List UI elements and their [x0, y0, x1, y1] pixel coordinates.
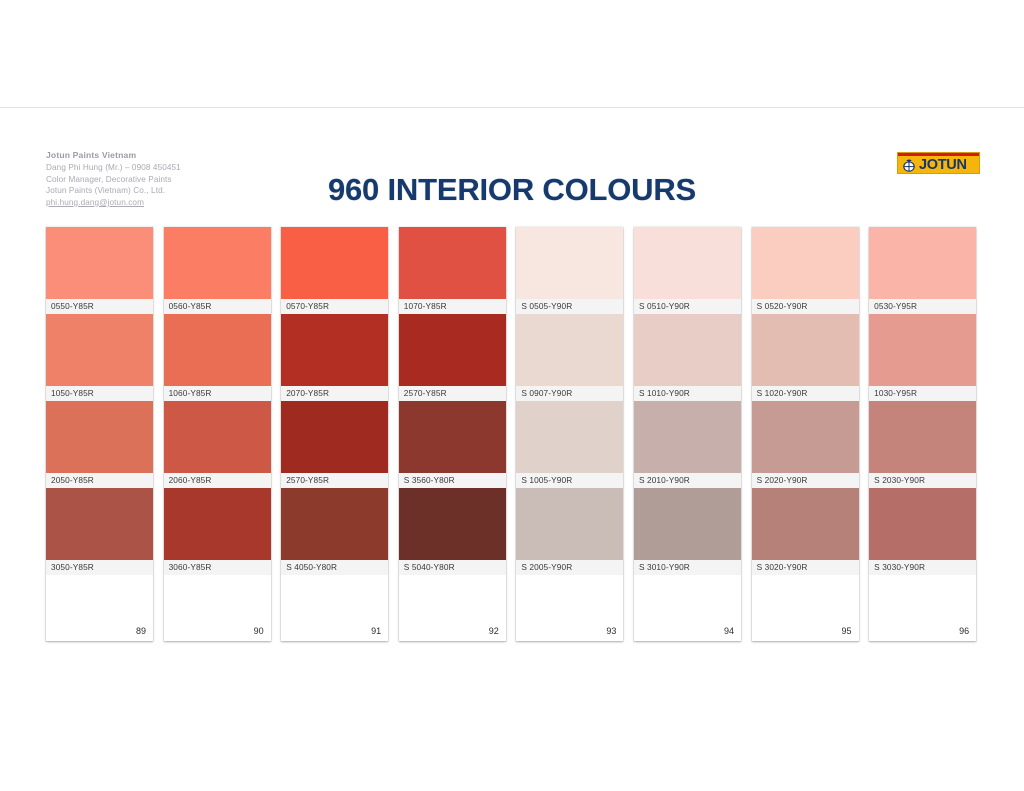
- colour-chip[interactable]: S 2010-Y90R: [634, 401, 741, 488]
- colour-chip[interactable]: 0570-Y85R: [281, 227, 388, 314]
- colour-swatch[interactable]: [634, 314, 741, 386]
- colour-column: S 0520-Y90RS 1020-Y90RS 2020-Y90RS 3020-…: [752, 227, 859, 641]
- colour-code-label: 3060-Y85R: [164, 560, 271, 575]
- colour-column: S 0505-Y90RS 0907-Y90RS 1005-Y90RS 2005-…: [516, 227, 623, 641]
- colour-code-label: 2070-Y85R: [281, 386, 388, 401]
- colour-column: 1070-Y85R2570-Y85RS 3560-Y80RS 5040-Y80R…: [399, 227, 506, 641]
- colour-swatch[interactable]: [516, 401, 623, 473]
- colour-code-label: S 5040-Y80R: [399, 560, 506, 575]
- colour-swatch[interactable]: [516, 488, 623, 560]
- colour-code-label: S 1010-Y90R: [634, 386, 741, 401]
- colour-swatch[interactable]: [164, 401, 271, 473]
- colour-swatch[interactable]: [869, 314, 976, 386]
- colour-chip[interactable]: 1050-Y85R: [46, 314, 153, 401]
- colour-swatch[interactable]: [46, 488, 153, 560]
- colour-code-label: S 3010-Y90R: [634, 560, 741, 575]
- colour-chip[interactable]: S 0520-Y90R: [752, 227, 859, 314]
- colour-chip[interactable]: S 4050-Y80R: [281, 488, 388, 575]
- colour-column: 0560-Y85R1060-Y85R2060-Y85R3060-Y85R90: [164, 227, 271, 641]
- colour-swatch[interactable]: [281, 314, 388, 386]
- colour-swatch[interactable]: [164, 314, 271, 386]
- colour-code-label: 2050-Y85R: [46, 473, 153, 488]
- column-footer: 96: [869, 575, 976, 641]
- colour-chip[interactable]: 1070-Y85R: [399, 227, 506, 314]
- colour-chip[interactable]: 0560-Y85R: [164, 227, 271, 314]
- page-number: 93: [606, 626, 616, 636]
- colour-chip[interactable]: S 2020-Y90R: [752, 401, 859, 488]
- colour-code-label: 0560-Y85R: [164, 299, 271, 314]
- colour-code-label: S 3560-Y80R: [399, 473, 506, 488]
- colour-code-label: S 2010-Y90R: [634, 473, 741, 488]
- colour-swatch-grid: 0550-Y85R1050-Y85R2050-Y85R3050-Y85R8905…: [46, 227, 986, 641]
- colour-swatch[interactable]: [399, 401, 506, 473]
- colour-swatch[interactable]: [46, 314, 153, 386]
- colour-swatch[interactable]: [164, 227, 271, 299]
- page-number: 91: [371, 626, 381, 636]
- colour-code-label: S 2005-Y90R: [516, 560, 623, 575]
- colour-chip[interactable]: 1060-Y85R: [164, 314, 271, 401]
- colour-swatch[interactable]: [46, 227, 153, 299]
- column-footer: 95: [752, 575, 859, 641]
- colour-code-label: 1050-Y85R: [46, 386, 153, 401]
- colour-chip[interactable]: S 5040-Y80R: [399, 488, 506, 575]
- colour-chip[interactable]: 2060-Y85R: [164, 401, 271, 488]
- colour-swatch[interactable]: [399, 314, 506, 386]
- colour-swatch[interactable]: [634, 227, 741, 299]
- colour-swatch[interactable]: [281, 401, 388, 473]
- jotun-logo: JOTUN: [897, 152, 980, 174]
- colour-code-label: S 3020-Y90R: [752, 560, 859, 575]
- colour-chip[interactable]: 3060-Y85R: [164, 488, 271, 575]
- column-footer: 93: [516, 575, 623, 641]
- colour-swatch[interactable]: [869, 401, 976, 473]
- colour-code-label: S 0505-Y90R: [516, 299, 623, 314]
- colour-swatch[interactable]: [869, 227, 976, 299]
- colour-code-label: 2570-Y85R: [281, 473, 388, 488]
- colour-chip[interactable]: S 2005-Y90R: [516, 488, 623, 575]
- page-number: 95: [842, 626, 852, 636]
- colour-swatch[interactable]: [634, 488, 741, 560]
- colour-chip[interactable]: S 2030-Y90R: [869, 401, 976, 488]
- colour-column: 0550-Y85R1050-Y85R2050-Y85R3050-Y85R89: [46, 227, 153, 641]
- colour-column: 0530-Y95R1030-Y95RS 2030-Y90RS 3030-Y90R…: [869, 227, 976, 641]
- page-number: 94: [724, 626, 734, 636]
- colour-code-label: S 0520-Y90R: [752, 299, 859, 314]
- colour-code-label: S 2020-Y90R: [752, 473, 859, 488]
- page-number: 89: [136, 626, 146, 636]
- colour-swatch[interactable]: [46, 401, 153, 473]
- colour-chip[interactable]: S 0505-Y90R: [516, 227, 623, 314]
- colour-swatch[interactable]: [634, 401, 741, 473]
- colour-code-label: 3050-Y85R: [46, 560, 153, 575]
- colour-chip[interactable]: S 3020-Y90R: [752, 488, 859, 575]
- colour-chip[interactable]: S 3030-Y90R: [869, 488, 976, 575]
- colour-code-label: S 3030-Y90R: [869, 560, 976, 575]
- colour-swatch[interactable]: [281, 488, 388, 560]
- colour-code-label: S 1020-Y90R: [752, 386, 859, 401]
- colour-chip[interactable]: 2570-Y85R: [399, 314, 506, 401]
- colour-code-label: 1060-Y85R: [164, 386, 271, 401]
- column-footer: 91: [281, 575, 388, 641]
- colour-swatch[interactable]: [399, 488, 506, 560]
- colour-chip[interactable]: 2070-Y85R: [281, 314, 388, 401]
- colour-column: S 0510-Y90RS 1010-Y90RS 2010-Y90RS 3010-…: [634, 227, 741, 641]
- column-footer: 89: [46, 575, 153, 641]
- colour-code-label: 1030-Y95R: [869, 386, 976, 401]
- colour-swatch[interactable]: [869, 488, 976, 560]
- colour-chip[interactable]: S 1010-Y90R: [634, 314, 741, 401]
- colour-code-label: S 1005-Y90R: [516, 473, 623, 488]
- colour-swatch[interactable]: [752, 488, 859, 560]
- colour-swatch[interactable]: [399, 227, 506, 299]
- contact-organisation: Jotun Paints Vietnam: [46, 150, 181, 162]
- colour-code-label: 0530-Y95R: [869, 299, 976, 314]
- colour-swatch[interactable]: [516, 227, 623, 299]
- colour-chip[interactable]: 2570-Y85R: [281, 401, 388, 488]
- jotun-emblem-icon: [902, 159, 916, 172]
- colour-chip[interactable]: S 3010-Y90R: [634, 488, 741, 575]
- colour-code-label: S 2030-Y90R: [869, 473, 976, 488]
- page-number: 90: [254, 626, 264, 636]
- colour-chip[interactable]: 3050-Y85R: [46, 488, 153, 575]
- page-title: 960 INTERIOR COLOURS: [0, 172, 1024, 208]
- colour-chip[interactable]: 0530-Y95R: [869, 227, 976, 314]
- colour-code-label: S 0510-Y90R: [634, 299, 741, 314]
- column-footer: 94: [634, 575, 741, 641]
- colour-swatch[interactable]: [164, 488, 271, 560]
- colour-swatch[interactable]: [752, 401, 859, 473]
- colour-code-label: 0570-Y85R: [281, 299, 388, 314]
- colour-chip[interactable]: 0550-Y85R: [46, 227, 153, 314]
- colour-chip[interactable]: S 1005-Y90R: [516, 401, 623, 488]
- colour-column: 0570-Y85R2070-Y85R2570-Y85RS 4050-Y80R91: [281, 227, 388, 641]
- colour-chip[interactable]: S 0510-Y90R: [634, 227, 741, 314]
- colour-chip[interactable]: 1030-Y95R: [869, 314, 976, 401]
- page-top-divider: [0, 107, 1024, 108]
- page-number: 96: [959, 626, 969, 636]
- colour-code-label: S 4050-Y80R: [281, 560, 388, 575]
- logo-red-stripe: [898, 153, 979, 156]
- column-footer: 90: [164, 575, 271, 641]
- colour-chip[interactable]: 2050-Y85R: [46, 401, 153, 488]
- page-number: 92: [489, 626, 499, 636]
- colour-swatch[interactable]: [752, 227, 859, 299]
- colour-code-label: 2570-Y85R: [399, 386, 506, 401]
- colour-chip[interactable]: S 1020-Y90R: [752, 314, 859, 401]
- colour-chip[interactable]: S 0907-Y90R: [516, 314, 623, 401]
- colour-chip[interactable]: S 3560-Y80R: [399, 401, 506, 488]
- colour-code-label: 2060-Y85R: [164, 473, 271, 488]
- colour-swatch[interactable]: [281, 227, 388, 299]
- colour-swatch[interactable]: [752, 314, 859, 386]
- logo-wordmark: JOTUN: [919, 157, 967, 173]
- colour-swatch[interactable]: [516, 314, 623, 386]
- colour-code-label: 1070-Y85R: [399, 299, 506, 314]
- colour-card-page: Jotun Paints Vietnam Dang Phi Hung (Mr.)…: [0, 0, 1024, 791]
- colour-code-label: S 0907-Y90R: [516, 386, 623, 401]
- colour-code-label: 0550-Y85R: [46, 299, 153, 314]
- column-footer: 92: [399, 575, 506, 641]
